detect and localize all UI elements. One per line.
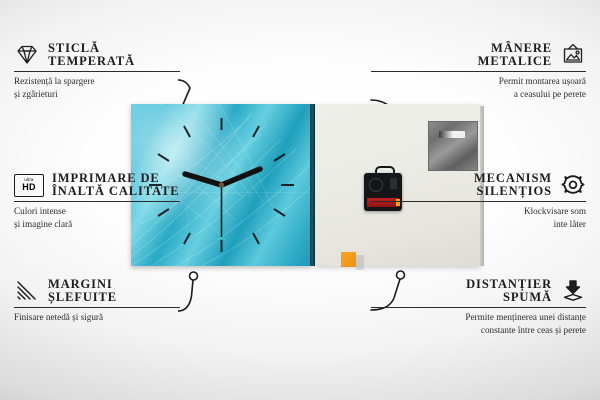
feature-header: MECANISM SILENȚIOS [371,172,586,198]
feature-desc-line1: Culori intense [14,205,229,217]
feature-description: Culori intense și imagine clară [14,205,229,230]
feature-title-line2: TEMPERATĂ [48,55,135,68]
feature-title-line2: ÎNALTĂ CALITATE [52,185,180,198]
feature-desc-line1: Rezistență la spargere [14,75,229,87]
feature-description: Permite menținerea unei distanțe constan… [371,311,586,336]
feature-tempered-glass: STICLĂ TEMPERATĂ Rezistență la spargere … [14,42,229,100]
metal-hanger-bracket [428,121,478,171]
feature-description: Klockvisare som inte låter [371,205,586,230]
feature-divider [371,71,586,72]
feature-divider [14,307,180,308]
feature-title: MÂNERE METALICE [478,42,552,68]
ultra-hd-big-label: HD [22,183,36,192]
feature-desc-line2: inte låter [371,218,586,230]
feature-desc-line1: Finisare netedă și sigură [14,311,229,323]
foam-spacer [341,252,356,267]
feature-header: DISTANȚIER SPUMĂ [371,278,586,304]
feature-desc-line2: și imagine clară [14,218,229,230]
feature-desc-line2: constante între ceas și perete [371,324,586,336]
feature-divider [371,201,586,202]
feature-header: STICLĂ TEMPERATĂ [14,42,229,68]
feature-desc-line1: Permite menținerea unei distanțe [371,311,586,323]
feature-desc-line2: a ceasului pe perete [371,88,586,100]
ultra-hd-icon: ultra HD [14,174,44,197]
feature-hd-print: ultra HD IMPRIMARE DE ÎNALTĂ CALITATE Cu… [14,172,229,230]
feature-foam-spacer: DISTANȚIER SPUMĂ Permite menținerea unei… [371,278,586,336]
feature-desc-line1: Permit montarea ușoară [371,75,586,87]
feature-divider [14,201,180,202]
feature-description: Rezistență la spargere și zgârieturi [14,75,229,100]
feature-divider [371,307,586,308]
feature-title: MECANISM SILENȚIOS [474,172,552,198]
feature-desc-line2: și zgârieturi [14,88,229,100]
feature-title: DISTANȚIER SPUMĂ [466,278,552,304]
infographic-canvas: STICLĂ TEMPERATĂ Rezistență la spargere … [0,0,600,400]
feature-header: ultra HD IMPRIMARE DE ÎNALTĂ CALITATE [14,172,229,198]
feature-silent-mechanism: MECANISM SILENȚIOS Klockvisare som inte … [371,172,586,230]
feature-header: MARGINI ȘLEFUITE [14,278,229,304]
diagonal-stripes-icon [14,279,40,303]
foam-spacer-shadow [356,255,364,270]
feature-polished-edges: MARGINI ȘLEFUITE Finisare netedă și sigu… [14,278,229,324]
down-arrow-stack-icon [560,279,586,303]
feature-description: Finisare netedă și sigură [14,311,229,323]
hanger-slot [439,131,465,138]
feature-title-line2: SPUMĂ [466,291,552,304]
feature-title: MARGINI ȘLEFUITE [48,278,117,304]
feature-title: IMPRIMARE DE ÎNALTĂ CALITATE [52,172,180,198]
feature-title: STICLĂ TEMPERATĂ [48,42,135,68]
feature-desc-line1: Klockvisare som [371,205,586,217]
feature-title-line2: METALICE [478,55,552,68]
feature-header: MÂNERE METALICE [371,42,586,68]
feature-description: Permit montarea ușoară a ceasului pe per… [371,75,586,100]
gear-icon [560,173,586,197]
diamond-icon [14,43,40,67]
framed-picture-icon [560,43,586,67]
feature-title-line2: ȘLEFUITE [48,291,117,304]
feature-metal-hooks: MÂNERE METALICE Permit montarea ușoară a… [371,42,586,100]
feature-divider [14,71,180,72]
feature-title-line2: SILENȚIOS [474,185,552,198]
